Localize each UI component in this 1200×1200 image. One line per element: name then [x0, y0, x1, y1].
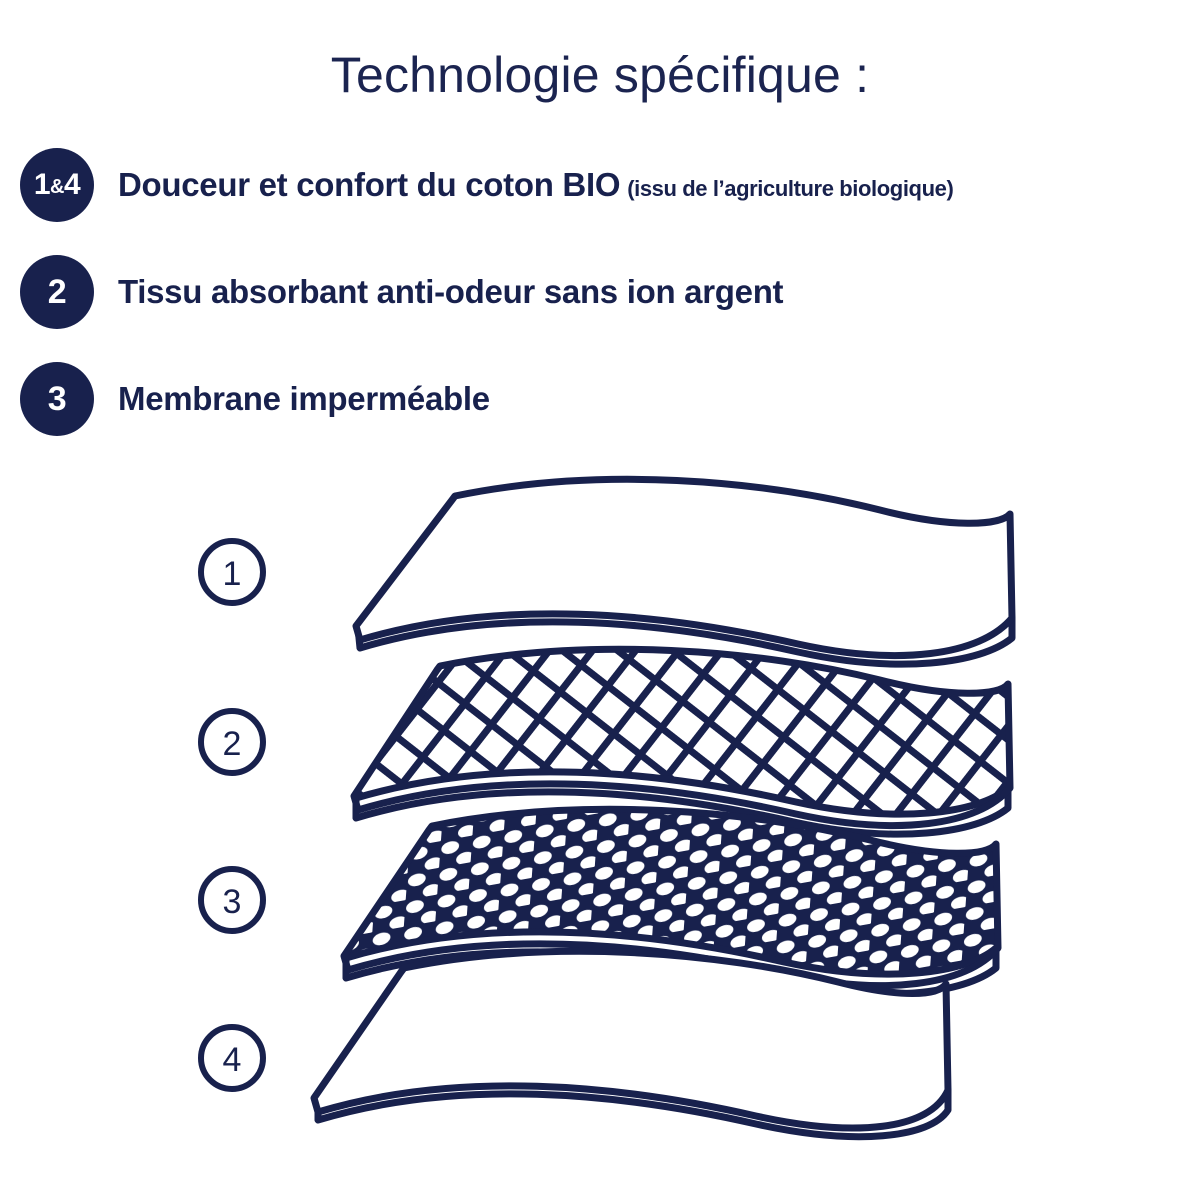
layer-marker-1-label: 1: [223, 555, 242, 593]
layer-marker-4-label: 4: [223, 1041, 242, 1079]
list-item-text: Douceur et confort du coton BIO: [118, 166, 620, 203]
layer-marker-3-label: 3: [223, 883, 242, 921]
layer-marker-1: 1: [201, 541, 263, 603]
list-item-label: Douceur et confort du coton BIO(issu de …: [118, 166, 953, 204]
layer-marker-2-label: 2: [223, 725, 242, 763]
badge-2: 2: [20, 255, 94, 329]
badge-number-left: 1: [34, 170, 50, 200]
list-item-label: Membrane imperméable: [118, 380, 490, 418]
list-item-label: Tissu absorbant anti-odeur sans ion arge…: [118, 273, 783, 311]
layer-marker-3: 3: [201, 869, 263, 931]
infographic-page: Technologie spécifique : 1&4 Douceur et …: [0, 0, 1200, 1200]
technology-list: 1&4 Douceur et confort du coton BIO(issu…: [20, 148, 1195, 469]
list-item: 3 Membrane imperméable: [20, 362, 1195, 436]
list-item: 2 Tissu absorbant anti-odeur sans ion ar…: [20, 255, 1195, 329]
badge-number-right: 4: [64, 170, 80, 200]
page-title: Technologie spécifique :: [0, 46, 1200, 104]
list-item-text: Tissu absorbant anti-odeur sans ion arge…: [118, 273, 783, 310]
layer-marker-2: 2: [201, 711, 263, 773]
badge-3: 3: [20, 362, 94, 436]
badge-ampersand: &: [50, 177, 64, 197]
layer-4-group: 4: [201, 951, 948, 1136]
layer-1-group: 1: [201, 479, 1012, 664]
layer-diagram: 1 2: [0, 470, 1200, 1150]
list-item-note: (issu de l’agriculture biologique): [627, 176, 953, 201]
badge-1-and-4: 1&4: [20, 148, 94, 222]
list-item-text: Membrane imperméable: [118, 380, 490, 417]
list-item: 1&4 Douceur et confort du coton BIO(issu…: [20, 148, 1195, 222]
layer-marker-4: 4: [201, 1027, 263, 1089]
